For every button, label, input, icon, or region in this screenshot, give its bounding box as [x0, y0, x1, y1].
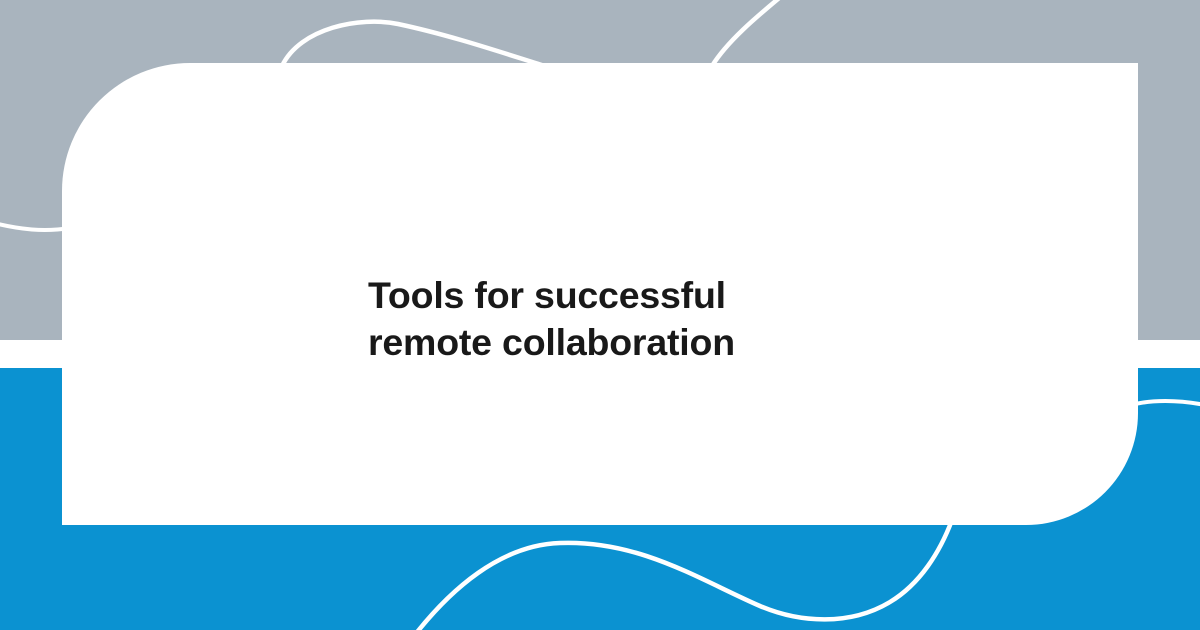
social-card-canvas: Tools for successful remote collaboratio…	[0, 0, 1200, 630]
page-title: Tools for successful remote collaboratio…	[368, 272, 1008, 366]
